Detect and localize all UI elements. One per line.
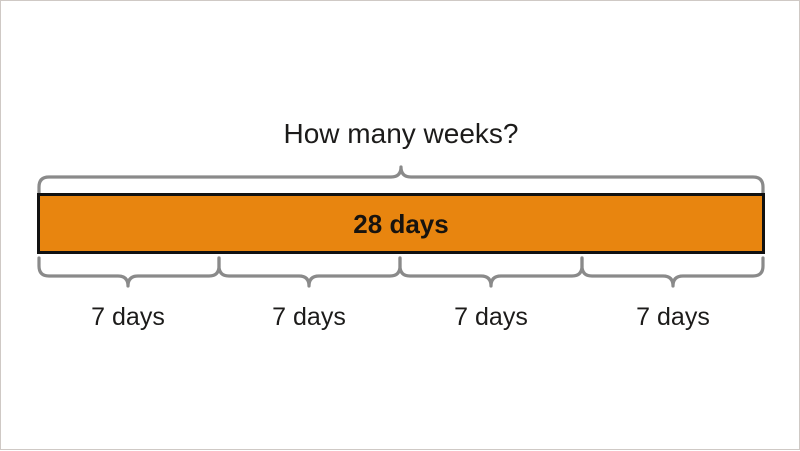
- part-brace-1: [39, 258, 219, 286]
- diagram-canvas: How many weeks? 28 days 7 days 7 days 7 …: [0, 0, 800, 450]
- part-label-1: 7 days: [91, 303, 165, 331]
- part-label-4: 7 days: [636, 303, 710, 331]
- bar-model-diagram: How many weeks? 28 days 7 days 7 days 7 …: [1, 1, 800, 451]
- part-braces-bottom: [39, 258, 763, 286]
- part-label-2: 7 days: [272, 303, 346, 331]
- whole-brace-top: [39, 167, 763, 195]
- part-brace-2: [219, 258, 400, 286]
- bar-value-label: 28 days: [353, 209, 448, 239]
- question-heading: How many weeks?: [284, 118, 519, 149]
- whole-brace-path: [39, 167, 763, 195]
- part-brace-4: [582, 258, 763, 286]
- part-label-3: 7 days: [454, 303, 528, 331]
- part-labels: 7 days 7 days 7 days 7 days: [91, 303, 710, 331]
- part-brace-3: [400, 258, 582, 286]
- whole-bar: 28 days: [39, 195, 764, 253]
